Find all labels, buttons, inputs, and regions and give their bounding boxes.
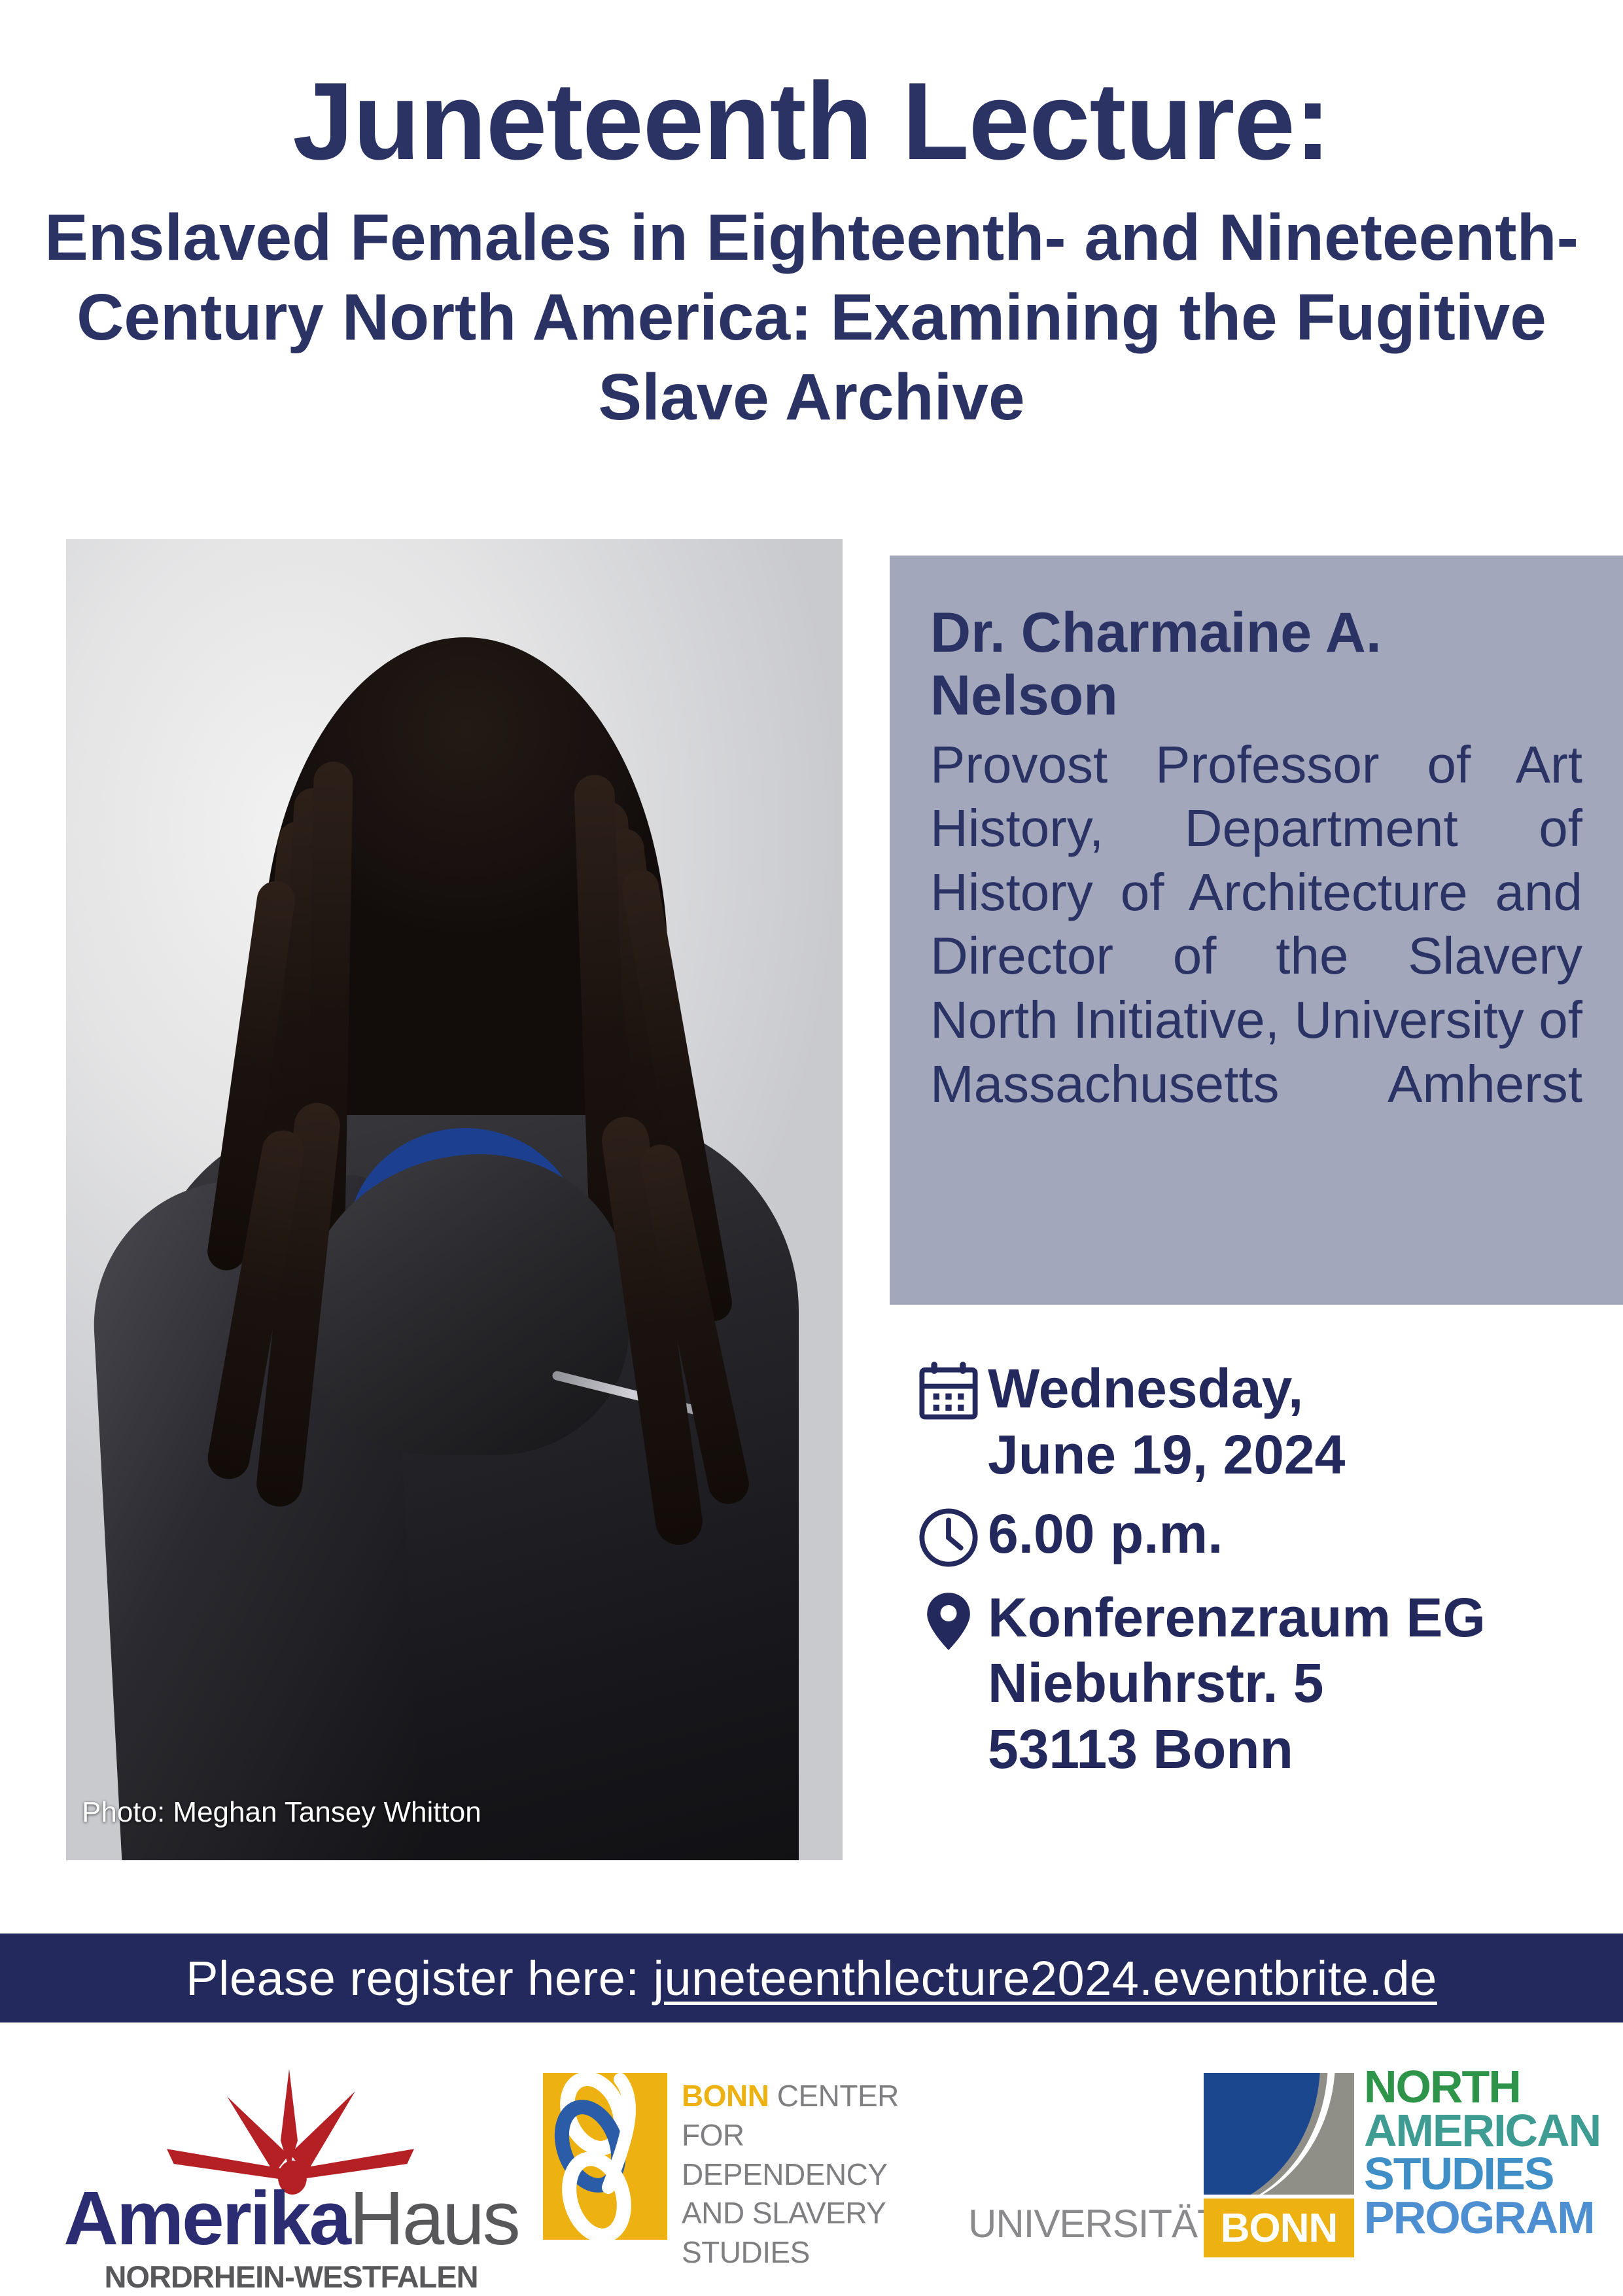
amerika-haus-wordmark: AmerikaHaus bbox=[62, 2180, 520, 2256]
event-date-text: Wednesday, June 19, 2024 bbox=[988, 1354, 1345, 1488]
event-location-line2: Niebuhrstr. 5 bbox=[988, 1650, 1486, 1716]
bcdss-wordmark: BONN CENTER FOR DEPENDENCY AND SLAVERY S… bbox=[682, 2077, 943, 2272]
registration-text: Please register here: juneteenthlecture2… bbox=[186, 1951, 1437, 2006]
event-time-text: 6.00 p.m. bbox=[988, 1500, 1223, 1567]
photo-credit: Photo: Meghan Tansey Whitton bbox=[82, 1796, 481, 1829]
map-pin-icon bbox=[916, 1583, 988, 1655]
amerika-word-blue: Amerika bbox=[63, 2176, 349, 2261]
event-location-line1: Konferenzraum EG bbox=[988, 1585, 1486, 1651]
nasp-line2: AMERICAN bbox=[1364, 2109, 1619, 2153]
bcdss-line3: AND SLAVERY bbox=[682, 2194, 943, 2233]
logo-universitaet-bonn: UNIVERSITÄT BONN bbox=[968, 2073, 1341, 2263]
chain-links-icon bbox=[543, 2073, 667, 2240]
event-location-line3: 53113 Bonn bbox=[988, 1716, 1486, 1782]
event-date-line2: June 19, 2024 bbox=[988, 1422, 1345, 1488]
speaker-photo: Photo: Meghan Tansey Whitton bbox=[66, 539, 843, 1860]
event-location-text: Konferenzraum EG Niebuhrstr. 5 53113 Bon… bbox=[988, 1583, 1486, 1782]
bcdss-center: CENTER bbox=[769, 2079, 898, 2113]
event-details: Wednesday, June 19, 2024 6.00 p.m. Konfe… bbox=[916, 1354, 1609, 1794]
red-starburst-icon bbox=[167, 2068, 415, 2189]
logo-bcdss: BONN CENTER FOR DEPENDENCY AND SLAVERY S… bbox=[543, 2073, 949, 2263]
speaker-info-box: Dr. Charmaine A. Nelson Provost Professo… bbox=[890, 556, 1623, 1305]
nasp-line4: PROGRAM bbox=[1364, 2196, 1619, 2240]
amerika-word-gray: Haus bbox=[349, 2176, 519, 2261]
event-date-line1: Wednesday, bbox=[988, 1356, 1345, 1422]
event-location-row: Konferenzraum EG Niebuhrstr. 5 53113 Bon… bbox=[916, 1583, 1609, 1782]
poster-header: Juneteenth Lecture: Enslaved Females in … bbox=[0, 63, 1623, 437]
page-title: Juneteenth Lecture: bbox=[0, 63, 1623, 179]
unibonn-bonn-box: BONN bbox=[1204, 2199, 1354, 2257]
nasp-line1: NORTH bbox=[1364, 2065, 1619, 2109]
registration-banner: Please register here: juneteenthlecture2… bbox=[0, 1934, 1623, 2022]
bcdss-line2: FOR DEPENDENCY bbox=[682, 2116, 943, 2195]
bcdss-bonn: BONN bbox=[682, 2079, 769, 2113]
clock-icon bbox=[916, 1500, 988, 1572]
sponsor-logo-bar: AmerikaHaus NORDRHEIN-WESTFALEN BONN CEN… bbox=[0, 2035, 1623, 2296]
logo-amerika-haus: AmerikaHaus NORDRHEIN-WESTFALEN bbox=[62, 2068, 520, 2264]
nasp-line3: STUDIES bbox=[1364, 2152, 1619, 2196]
bcdss-line1: BONN CENTER bbox=[682, 2077, 943, 2116]
amerika-haus-subtitle: NORDRHEIN-WESTFALEN bbox=[62, 2259, 520, 2295]
registration-prompt: Please register here: bbox=[186, 1951, 653, 2005]
event-time-row: 6.00 p.m. bbox=[916, 1500, 1609, 1572]
bonn-shield-icon bbox=[1204, 2073, 1354, 2195]
bcdss-line4: STUDIES bbox=[682, 2233, 943, 2272]
registration-link[interactable]: juneteenthlecture2024.eventbrite.de bbox=[654, 1951, 1437, 2005]
speaker-name: Dr. Charmaine A. Nelson bbox=[930, 601, 1582, 728]
speaker-affiliation: Provost Professor of Art History, Depart… bbox=[930, 733, 1582, 1116]
event-date-row: Wednesday, June 19, 2024 bbox=[916, 1354, 1609, 1488]
calendar-icon bbox=[916, 1354, 988, 1426]
unibonn-wordmark: UNIVERSITÄT bbox=[968, 2201, 1197, 2246]
logo-nasp: NORTH AMERICAN STUDIES PROGRAM bbox=[1364, 2065, 1619, 2255]
poster-subtitle: Enslaved Females in Eighteenth- and Nine… bbox=[27, 198, 1597, 437]
